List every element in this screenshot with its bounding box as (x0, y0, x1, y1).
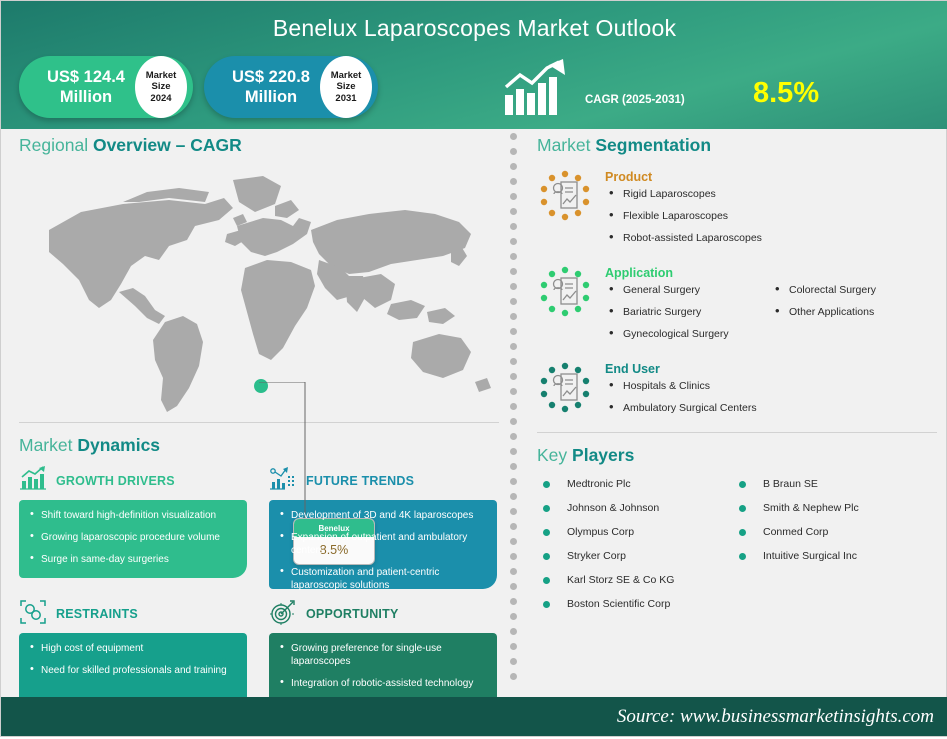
market-size-2031-amount: US$ 220.8 (232, 68, 310, 86)
cagr-value: 8.5% (753, 77, 819, 110)
list-item: Smith & Nephew Plc (733, 502, 937, 514)
page-title: Benelux Laparoscopes Market Outlook (1, 15, 947, 42)
market-size-2031-badge: Market Size 2031 (320, 56, 372, 118)
list-item: Conmed Corp (733, 526, 937, 538)
segment-end-user-columns: Hospitals & Clinics Ambulatory Surgical … (605, 380, 937, 424)
segment-application-label: Application (605, 266, 937, 280)
badge-line-2: Size (151, 81, 170, 93)
market-size-2024-value: US$ 124.4 Million (37, 67, 135, 107)
list-item: Colorectal Surgery (771, 284, 937, 297)
document-chart-icon (537, 166, 593, 254)
list-item: B Braun SE (733, 478, 937, 490)
list-item: Karl Storz SE & Co KG (537, 574, 733, 586)
restraints-title: RESTRAINTS (56, 607, 138, 621)
segment-application-columns: General Surgery Bariatric Surgery Gyneco… (605, 284, 937, 350)
header-banner: Benelux Laparoscopes Market Outlook US$ … (1, 1, 947, 129)
segment-end-user-label: End User (605, 362, 937, 376)
right-panel: Market Segmentation (537, 135, 937, 622)
growth-drivers-card: Shift toward high-definition visualizati… (19, 500, 247, 578)
segment-application-body: Application General Surgery Bariatric Su… (605, 262, 937, 350)
list-item: Intuitive Surgical Inc (733, 550, 937, 562)
segment-product: Product Rigid Laparoscopes Flexible Lapa… (537, 166, 937, 254)
list-item: Boston Scientific Corp (537, 598, 733, 610)
segment-application: Application General Surgery Bariatric Su… (537, 262, 937, 350)
bar-chart-growth-icon (19, 465, 47, 498)
key-players-list-left: Medtronic Plc Johnson & Johnson Olympus … (537, 478, 733, 622)
right-divider (537, 432, 937, 433)
heading-bold: Segmentation (595, 135, 711, 155)
badge-line-1: Market (331, 70, 362, 82)
list-item: Medtronic Plc (537, 478, 733, 490)
future-trends-list: Development of 3D and 4K laparoscopes Ex… (275, 509, 487, 592)
heading-light: Regional (19, 135, 93, 155)
growth-drivers-title-row: GROWTH DRIVERS (19, 466, 247, 496)
list-item: Hospitals & Clinics (605, 380, 937, 393)
heading-light: Key (537, 445, 572, 465)
list-item: General Surgery (605, 284, 771, 297)
segment-product-body: Product Rigid Laparoscopes Flexible Lapa… (605, 166, 937, 254)
list-item: Ambulatory Surgical Centers (605, 402, 937, 415)
left-panel: Regional Overview – CAGR (19, 135, 499, 739)
list-item: Expansion of outpatient and ambulatory c… (275, 531, 487, 557)
segment-end-user-list: Hospitals & Clinics Ambulatory Surgical … (605, 380, 937, 424)
heading-light: Market (19, 435, 77, 455)
segment-product-label: Product (605, 170, 937, 184)
document-chart-icon (537, 262, 593, 350)
segment-end-user-body: End User Hospitals & Clinics Ambulatory … (605, 358, 937, 424)
opportunity-title-row: OPPORTUNITY (269, 599, 497, 629)
opportunity-title: OPPORTUNITY (306, 607, 398, 621)
list-item: Stryker Corp (537, 550, 733, 562)
segment-application-list-right: Colorectal Surgery Other Applications (771, 284, 937, 350)
key-players-grid: Medtronic Plc Johnson & Johnson Olympus … (537, 478, 937, 622)
list-item: Robot-assisted Laparoscopes (605, 232, 937, 245)
list-item: Growing laparoscopic procedure volume (25, 531, 237, 544)
list-item: Customization and patient-centric laparo… (275, 566, 487, 592)
badge-line-3: 2024 (150, 93, 171, 105)
market-size-2031-value: US$ 220.8 Million (222, 67, 320, 107)
growth-drivers-block: GROWTH DRIVERS Shift toward high-definit… (19, 466, 247, 589)
world-map-container: Benelux 8.5% (19, 160, 499, 422)
market-segmentation-heading: Market Segmentation (537, 135, 937, 156)
market-size-2031-unit: Million (245, 88, 297, 106)
footer-bar: Source: www.businessmarketinsights.com (1, 697, 947, 736)
document-chart-icon (537, 358, 593, 424)
list-item: Shift toward high-definition visualizati… (25, 509, 237, 522)
list-item: Development of 3D and 4K laparoscopes (275, 509, 487, 522)
list-item: Bariatric Surgery (605, 306, 771, 319)
vertical-dotted-divider (510, 133, 518, 699)
segment-product-columns: Rigid Laparoscopes Flexible Laparoscopes… (605, 188, 937, 254)
future-trends-card: Development of 3D and 4K laparoscopes Ex… (269, 500, 497, 589)
list-item: Rigid Laparoscopes (605, 188, 937, 201)
link-restraint-icon (19, 598, 47, 631)
badge-line-3: 2031 (335, 93, 356, 105)
source-attribution: Source: www.businessmarketinsights.com (617, 706, 934, 728)
list-item: Surge in same-day surgeries (25, 553, 237, 566)
list-item: Integration of robotic-assisted technolo… (275, 677, 487, 690)
market-size-2024-unit: Million (60, 88, 112, 106)
segment-end-user: End User Hospitals & Clinics Ambulatory … (537, 358, 937, 424)
list-item: Olympus Corp (537, 526, 733, 538)
market-size-2024-badge: Market Size 2024 (135, 56, 187, 118)
growth-drivers-title: GROWTH DRIVERS (56, 474, 175, 488)
heading-bold: Players (572, 445, 634, 465)
infographic-page: Benelux Laparoscopes Market Outlook US$ … (0, 0, 947, 737)
key-players-heading: Key Players (537, 445, 937, 466)
list-item: Gynecological Surgery (605, 328, 771, 341)
list-item: Flexible Laparoscopes (605, 210, 937, 223)
heading-bold: Overview – CAGR (93, 135, 242, 155)
list-item: High cost of equipment (25, 642, 237, 655)
market-size-2031-pill: US$ 220.8 Million Market Size 2031 (204, 56, 378, 118)
segment-application-list-left: General Surgery Bariatric Surgery Gyneco… (605, 284, 771, 350)
growth-drivers-list: Shift toward high-definition visualizati… (25, 509, 237, 566)
restraints-title-row: RESTRAINTS (19, 599, 247, 629)
market-size-2024-amount: US$ 124.4 (47, 68, 125, 86)
badge-line-2: Size (336, 81, 355, 93)
list-item: Johnson & Johnson (537, 502, 733, 514)
restraints-list: High cost of equipment Need for skilled … (25, 642, 237, 677)
growth-bar-chart-arrow-icon (503, 59, 569, 122)
key-players-list-right: B Braun SE Smith & Nephew Plc Conmed Cor… (733, 478, 937, 622)
badge-line-1: Market (146, 70, 177, 82)
heading-light: Market (537, 135, 595, 155)
heading-bold: Dynamics (77, 435, 160, 455)
target-dart-icon (269, 598, 297, 631)
segment-product-list: Rigid Laparoscopes Flexible Laparoscopes… (605, 188, 937, 254)
list-item: Growing preference for single-use laparo… (275, 642, 487, 668)
cagr-label: CAGR (2025-2031) (585, 94, 685, 106)
regional-overview-heading: Regional Overview – CAGR (19, 135, 499, 156)
list-item: Need for skilled professionals and train… (25, 664, 237, 677)
list-item: Other Applications (771, 306, 937, 319)
market-size-2024-pill: US$ 124.4 Million Market Size 2024 (19, 56, 193, 118)
